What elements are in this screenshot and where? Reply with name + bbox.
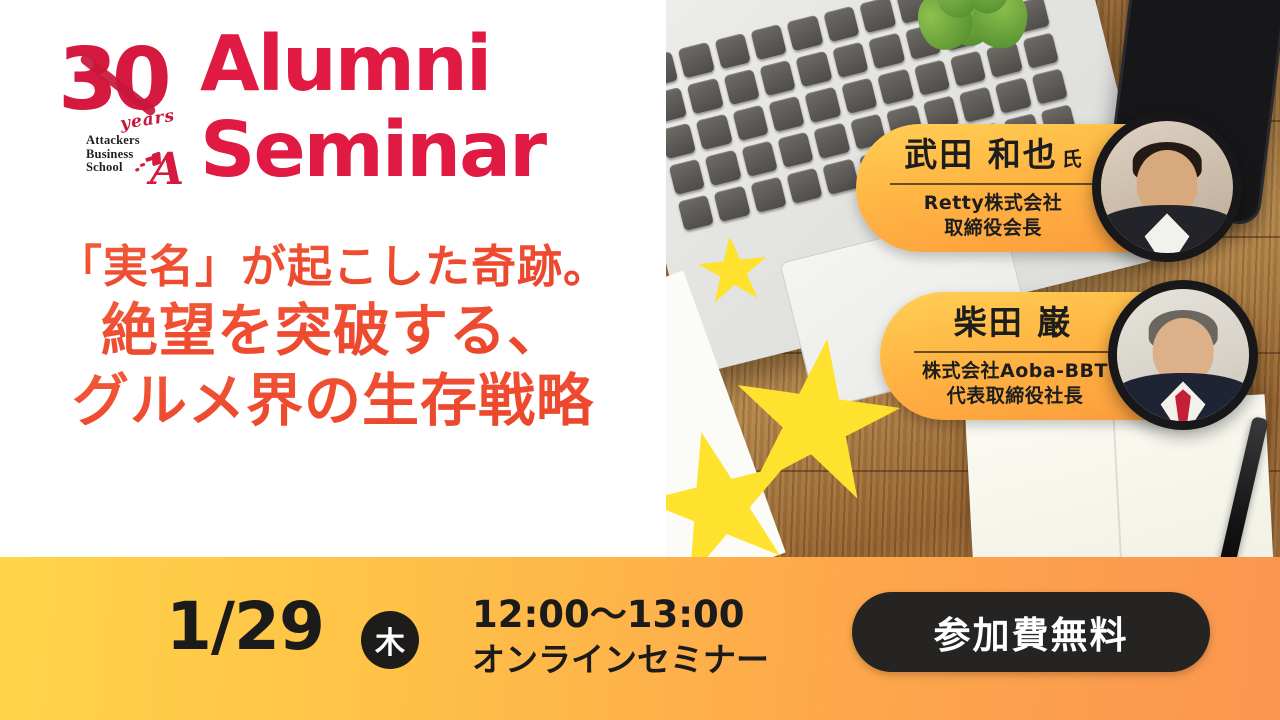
- speaker-organization: Retty株式会社: [924, 191, 1063, 216]
- speaker-divider: [914, 351, 1116, 353]
- speaker-name-text: 柴田 巌: [954, 303, 1073, 342]
- speaker-job-title: 代表取締役社長: [947, 384, 1084, 409]
- speaker-card-takeda: 武田 和也氏 Retty株式会社 取締役会長: [856, 124, 1172, 252]
- alumni-seminar-wordmark: Alumni Seminar: [200, 22, 545, 194]
- event-date: 1/29: [166, 588, 324, 666]
- speaker-job-title: 取締役会長: [944, 216, 1042, 241]
- speaker-name-text: 武田 和也: [904, 135, 1058, 174]
- logo-school-name: Attackers Business School: [86, 134, 140, 175]
- seminar-poster: 30 years Attackers Business School A Alu…: [0, 0, 1280, 720]
- wordmark-line-2: Seminar: [200, 108, 545, 194]
- speaker-avatar: [1092, 112, 1242, 262]
- logo-school-line-2: Business: [86, 148, 140, 162]
- logo-a-mark: A: [150, 148, 184, 192]
- desk-photo: [640, 0, 1280, 558]
- event-time-block: 12:00〜13:00 オンラインセミナー: [472, 592, 769, 682]
- event-format: オンラインセミナー: [472, 638, 769, 682]
- speaker-name-suffix: 氏: [1062, 147, 1082, 171]
- headline-line-3: グルメ界の生存戦略: [0, 366, 666, 436]
- wordmark-line-1: Alumni: [200, 20, 490, 109]
- free-admission-button[interactable]: 参加費無料: [852, 592, 1210, 672]
- speaker-divider: [890, 183, 1096, 185]
- headline-line-1: 「実名」が起こした奇跡。: [0, 238, 666, 296]
- logo-school-line-1: Attackers: [86, 134, 140, 148]
- speaker-card-shibata: 柴田 巌 株式会社Aoba-BBT 代表取締役社長: [880, 292, 1192, 420]
- speaker-name: 柴田 巌: [954, 304, 1077, 346]
- succulent-plant-image: [912, 0, 1042, 86]
- speaker-avatar: [1108, 280, 1258, 430]
- abs-30years-logo: 30 years Attackers Business School A: [58, 28, 193, 198]
- speaker-organization: 株式会社Aoba-BBT: [922, 359, 1108, 384]
- headline: 「実名」が起こした奇跡。 絶望を突破する、 グルメ界の生存戦略: [0, 238, 666, 436]
- left-content-panel: 30 years Attackers Business School A Alu…: [0, 0, 666, 558]
- headline-line-2: 絶望を突破する、: [0, 296, 666, 366]
- speaker-name: 武田 和也氏: [904, 136, 1082, 178]
- logo-school-line-3: School: [86, 161, 140, 175]
- weekday-badge: 木: [361, 611, 419, 669]
- event-time: 12:00〜13:00: [472, 592, 769, 638]
